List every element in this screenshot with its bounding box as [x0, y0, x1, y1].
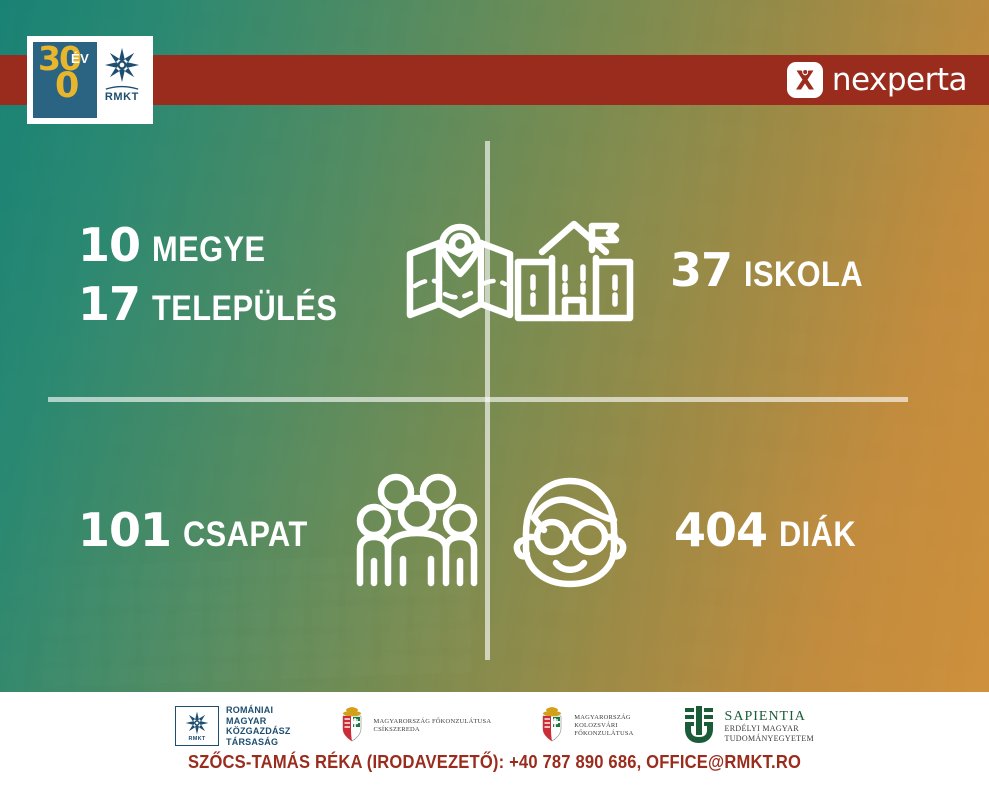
footer: RMKT ROMÁNIAI MAGYAR KÖZGAZDÁSZ TÁRSASÁG — [0, 692, 989, 787]
partner-kolozsvar-consulate: MAGYARORSZÁG KOLOZSVÁRI FŐKONZULÁTUSA — [537, 707, 633, 745]
logo-years-word: ÉV — [71, 51, 89, 66]
partner-csikszereda-consulate: MAGYARORSZÁG FŐKONZULÁTUSA CSÍKSZEREDA — [337, 707, 492, 745]
partner-rmkt-text: ROMÁNIAI MAGYAR KÖZGAZDÁSZ TÁRSASÁG — [226, 705, 291, 747]
stat-counties-text: 10 MEGYE 17 TELEPÜLÉS — [78, 222, 363, 328]
stat-counties: 10 MEGYE 17 TELEPÜLÉS — [78, 205, 468, 345]
infographic-poster: 30 ÉV 0 — [0, 0, 989, 787]
logo-org-abbrev: RMKT — [105, 91, 139, 103]
partner-text-line: MAGYARORSZÁG FŐKONZULÁTUSA — [374, 718, 492, 726]
stat-line: 101 CSAPAT — [78, 507, 325, 554]
stat-teams: 101 CSAPAT — [78, 460, 468, 600]
stat-line: 17 TELEPÜLÉS — [78, 281, 363, 328]
stat-students-text: 404 DIÁK — [674, 507, 867, 554]
rmkt-badge: RMKT — [175, 706, 219, 746]
stat-number: 101 — [78, 507, 171, 553]
partner-sapientia: SAPIENTIA ERDÉLYI MAGYAR TUDOMÁNYEGYETEM — [680, 705, 814, 747]
logo-swoosh-icon — [105, 84, 139, 90]
stat-number: 404 — [674, 507, 767, 553]
nexperta-logo[interactable]: nexperta — [787, 59, 967, 101]
hungary-coat-of-arms-icon — [537, 707, 567, 745]
partner-text-line: ROMÁNIAI — [226, 705, 291, 716]
stat-schools-text: 37 ISKOLA — [670, 247, 879, 294]
stat-label: TELEPÜLÉS — [152, 290, 337, 328]
logo-anniversary-panel: 30 ÉV 0 — [33, 42, 97, 118]
partner-sapientia-text: SAPIENTIA ERDÉLYI MAGYAR TUDOMÁNYEGYETEM — [725, 709, 814, 743]
stat-line: 37 ISKOLA — [670, 247, 879, 294]
partner-text-line: MAGYARORSZÁG — [574, 714, 633, 722]
stat-line: 404 DIÁK — [674, 507, 867, 554]
stat-label: MEGYE — [152, 231, 265, 269]
people-group-icon — [355, 471, 479, 589]
partner-kolozsvar-text: MAGYARORSZÁG KOLOZSVÁRI FŐKONZULÁTUSA — [574, 714, 633, 738]
partner-csikszereda-text: MAGYARORSZÁG FŐKONZULÁTUSA CSÍKSZEREDA — [374, 718, 492, 734]
stat-teams-text: 101 CSAPAT — [78, 507, 325, 554]
stat-label: CSAPAT — [183, 516, 308, 554]
map-pin-icon — [399, 214, 521, 336]
stat-number: 10 — [78, 222, 140, 268]
partner-logos-row: RMKT ROMÁNIAI MAGYAR KÖZGAZDÁSZ TÁRSASÁG — [0, 698, 989, 754]
contact-line[interactable]: SZŐCS-TAMÁS RÉKA (IRODAVEZETŐ): +40 787 … — [40, 752, 950, 773]
partner-rmkt: RMKT ROMÁNIAI MAGYAR KÖZGAZDÁSZ TÁRSASÁG — [175, 705, 291, 747]
partner-text-line: CSÍKSZEREDA — [374, 726, 492, 734]
stat-schools: 37 ISKOLA — [508, 200, 908, 340]
partner-text-line: KOLOZSVÁRI — [574, 722, 633, 730]
rmkt-star-icon — [184, 711, 210, 735]
stat-label: DIÁK — [779, 516, 856, 554]
student-face-icon — [508, 468, 632, 592]
stat-label: ISKOLA — [744, 256, 863, 294]
partner-text-line: MAGYAR — [226, 716, 291, 727]
partner-text-line: ERDÉLYI MAGYAR — [725, 724, 814, 734]
stat-number: 17 — [78, 281, 140, 327]
rmkt-badge-label: RMKT — [189, 736, 206, 742]
stat-students: 404 DIÁK — [508, 460, 908, 600]
nexperta-wordmark: nexperta — [832, 65, 967, 96]
rmkt-star-icon — [104, 47, 140, 83]
rmkt-anniversary-logo: 30 ÉV 0 — [27, 36, 153, 124]
partner-text-line: FŐKONZULÁTUSA — [574, 730, 633, 738]
school-building-icon — [508, 206, 640, 334]
partner-text-line: KÖZGAZDÁSZ — [226, 726, 291, 737]
logo-rmkt-panel: RMKT — [97, 42, 147, 118]
sapientia-wheat-icon — [680, 705, 718, 747]
stat-line: 10 MEGYE — [78, 222, 363, 269]
horizontal-divider — [48, 397, 908, 402]
partner-text-line: TÁRSASÁG — [226, 737, 291, 748]
stat-number: 37 — [670, 247, 732, 293]
nexperta-x-icon — [787, 62, 823, 98]
hungary-coat-of-arms-icon — [337, 707, 367, 745]
partner-title: SAPIENTIA — [725, 709, 814, 724]
logo-years-zero: 0 — [55, 70, 79, 103]
partner-text-line: TUDOMÁNYEGYETEM — [725, 734, 814, 744]
